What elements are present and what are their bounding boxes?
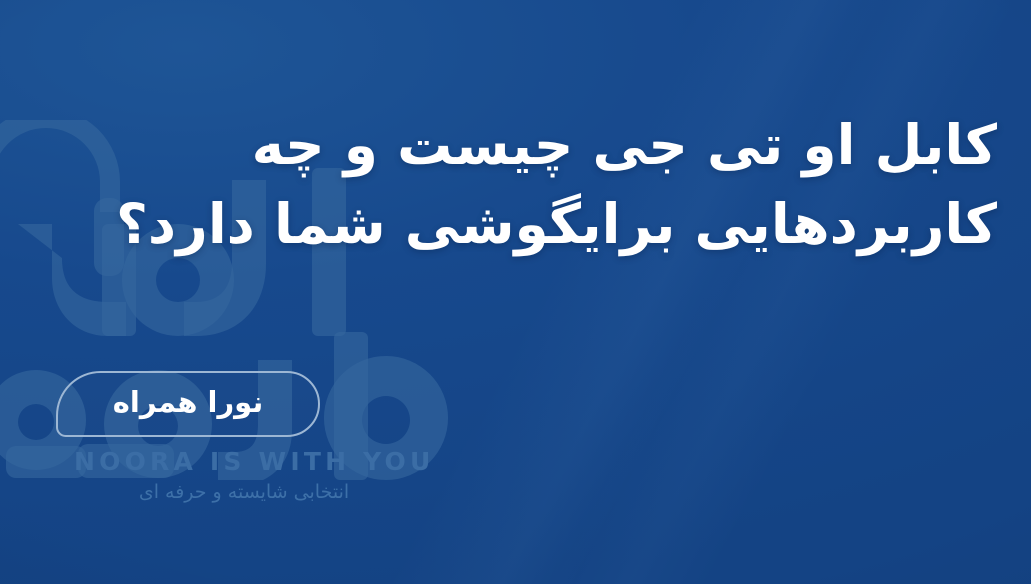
headline: کابل او تی جی چیست و چه کاربردهایی برایگ… bbox=[67, 108, 997, 262]
brand-cta-button[interactable]: نورا همراه bbox=[56, 371, 320, 437]
background-vignette bbox=[0, 0, 1031, 584]
banner-image: NOORA IS WITH YOU انتخابی شایسته و حرفه … bbox=[0, 0, 1031, 584]
headline-line-1: کابل او تی جی چیست و چه bbox=[67, 108, 997, 183]
headline-line-2: کاربردهایی برایگوشی شما دارد؟ bbox=[67, 187, 997, 262]
brand-cta-label: نورا همراه bbox=[113, 388, 263, 420]
